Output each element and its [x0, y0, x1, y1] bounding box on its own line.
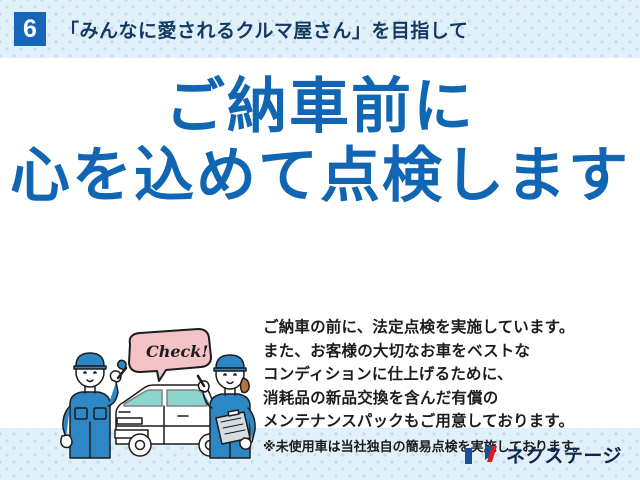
header-bar: 6 「みんなに愛されるクルマ屋さん」を目指して [0, 0, 640, 58]
content-panel: ご納車前に 心を込めて点検します ご納車の前に、法定点検を実施しています。 また… [0, 58, 640, 428]
headline-line-1: ご納車前に [0, 76, 640, 137]
body-line: ご納車の前に、法定点検を実施しています。 [263, 316, 635, 340]
body-line: 消耗品の新品交換を含んだ有償の [263, 387, 635, 411]
body-line: メンテナンスパックもご用意しております。 [263, 410, 635, 434]
body-line: コンディションに仕上げるために、 [263, 363, 635, 387]
brand-name: ネクステージ [506, 441, 622, 468]
check-bubble-label: Check! [146, 342, 208, 361]
brand-logo: ネクステージ [463, 441, 622, 468]
headline: ご納車前に 心を込めて点検します [0, 76, 640, 206]
mechanics-illustration: Check! [58, 326, 263, 466]
section-number-badge: 6 [14, 12, 46, 46]
body-line: また、お客様の大切なお車をベストな [263, 340, 635, 364]
headline-line-2: 心を込めて点検します [0, 145, 640, 206]
body-text-block: ご納車の前に、法定点検を実施しています。 また、お客様の大切なお車をベストな コ… [263, 316, 635, 456]
nextage-n-logo-icon [463, 443, 499, 467]
header-title: 「みんなに愛されるクルマ屋さん」を目指して [60, 16, 468, 43]
